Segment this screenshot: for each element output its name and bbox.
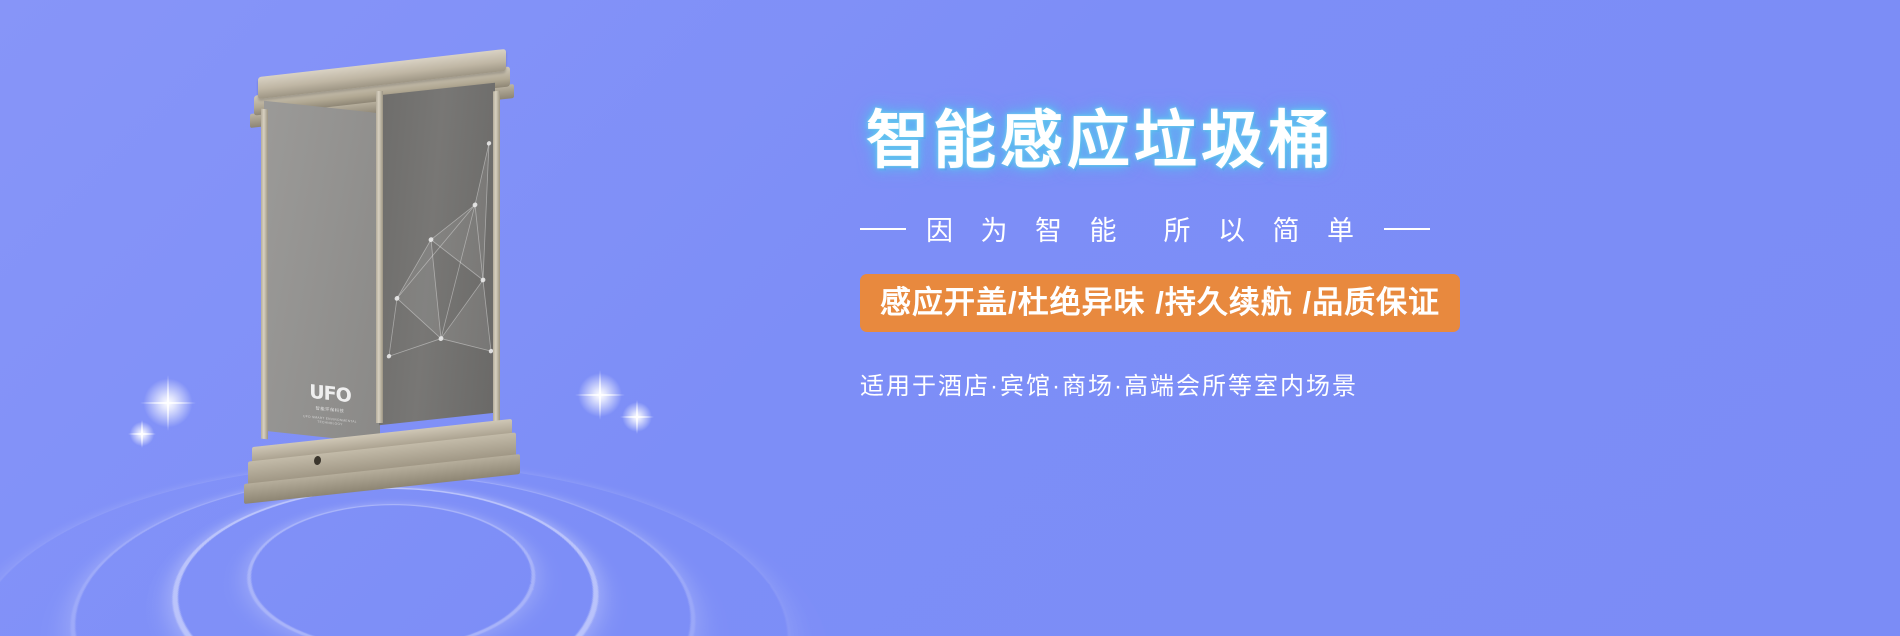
banner-subline-text: 因 为 智 能 所 以 简 单 (926, 209, 1364, 248)
feature-badge: 感应开盖/杜绝异味 /持久续航 /品质保证 (860, 274, 1460, 332)
bin-edge-right (493, 91, 500, 422)
banner-headline: 智能感应垃圾桶 (866, 110, 1720, 173)
banner-subline: 因 为 智 能 所 以 简 单 (860, 209, 1720, 248)
network-pattern-graphic (379, 83, 495, 426)
product-image-trash-bin: UFO 智能环保科技 UFO SMART ENVIRONMENTAL TECHN… (250, 55, 530, 475)
ufo-brand-logo: UFO 智能环保科技 UFO SMART ENVIRONMENTAL TECHN… (298, 382, 362, 429)
sparkle-icon (128, 420, 156, 448)
sparkle-icon (575, 370, 625, 420)
ufo-logo-wordmark: UFO (309, 383, 351, 407)
bin-edge-left (261, 109, 268, 440)
ripple-ring-core (209, 504, 569, 636)
bin-edge-center (376, 91, 383, 423)
ripple-ring-middle (0, 475, 849, 636)
rule-right-icon (1384, 228, 1430, 230)
banner-copy-block: 智能感应垃圾桶 因 为 智 能 所 以 简 单 感应开盖/杜绝异味 /持久续航 … (860, 110, 1720, 401)
rule-left-icon (860, 228, 906, 230)
ripple-ring-outer (0, 463, 1038, 636)
sparkle-icon (140, 375, 196, 431)
sparkle-icon (620, 400, 654, 434)
ripple-ring-inner (88, 488, 674, 636)
promo-banner: UFO 智能环保科技 UFO SMART ENVIRONMENTAL TECHN… (0, 0, 1900, 636)
banner-footnote: 适用于酒店·宾馆·商场·高端会所等室内场景 (860, 366, 1720, 401)
bin-side-panel (379, 83, 495, 426)
